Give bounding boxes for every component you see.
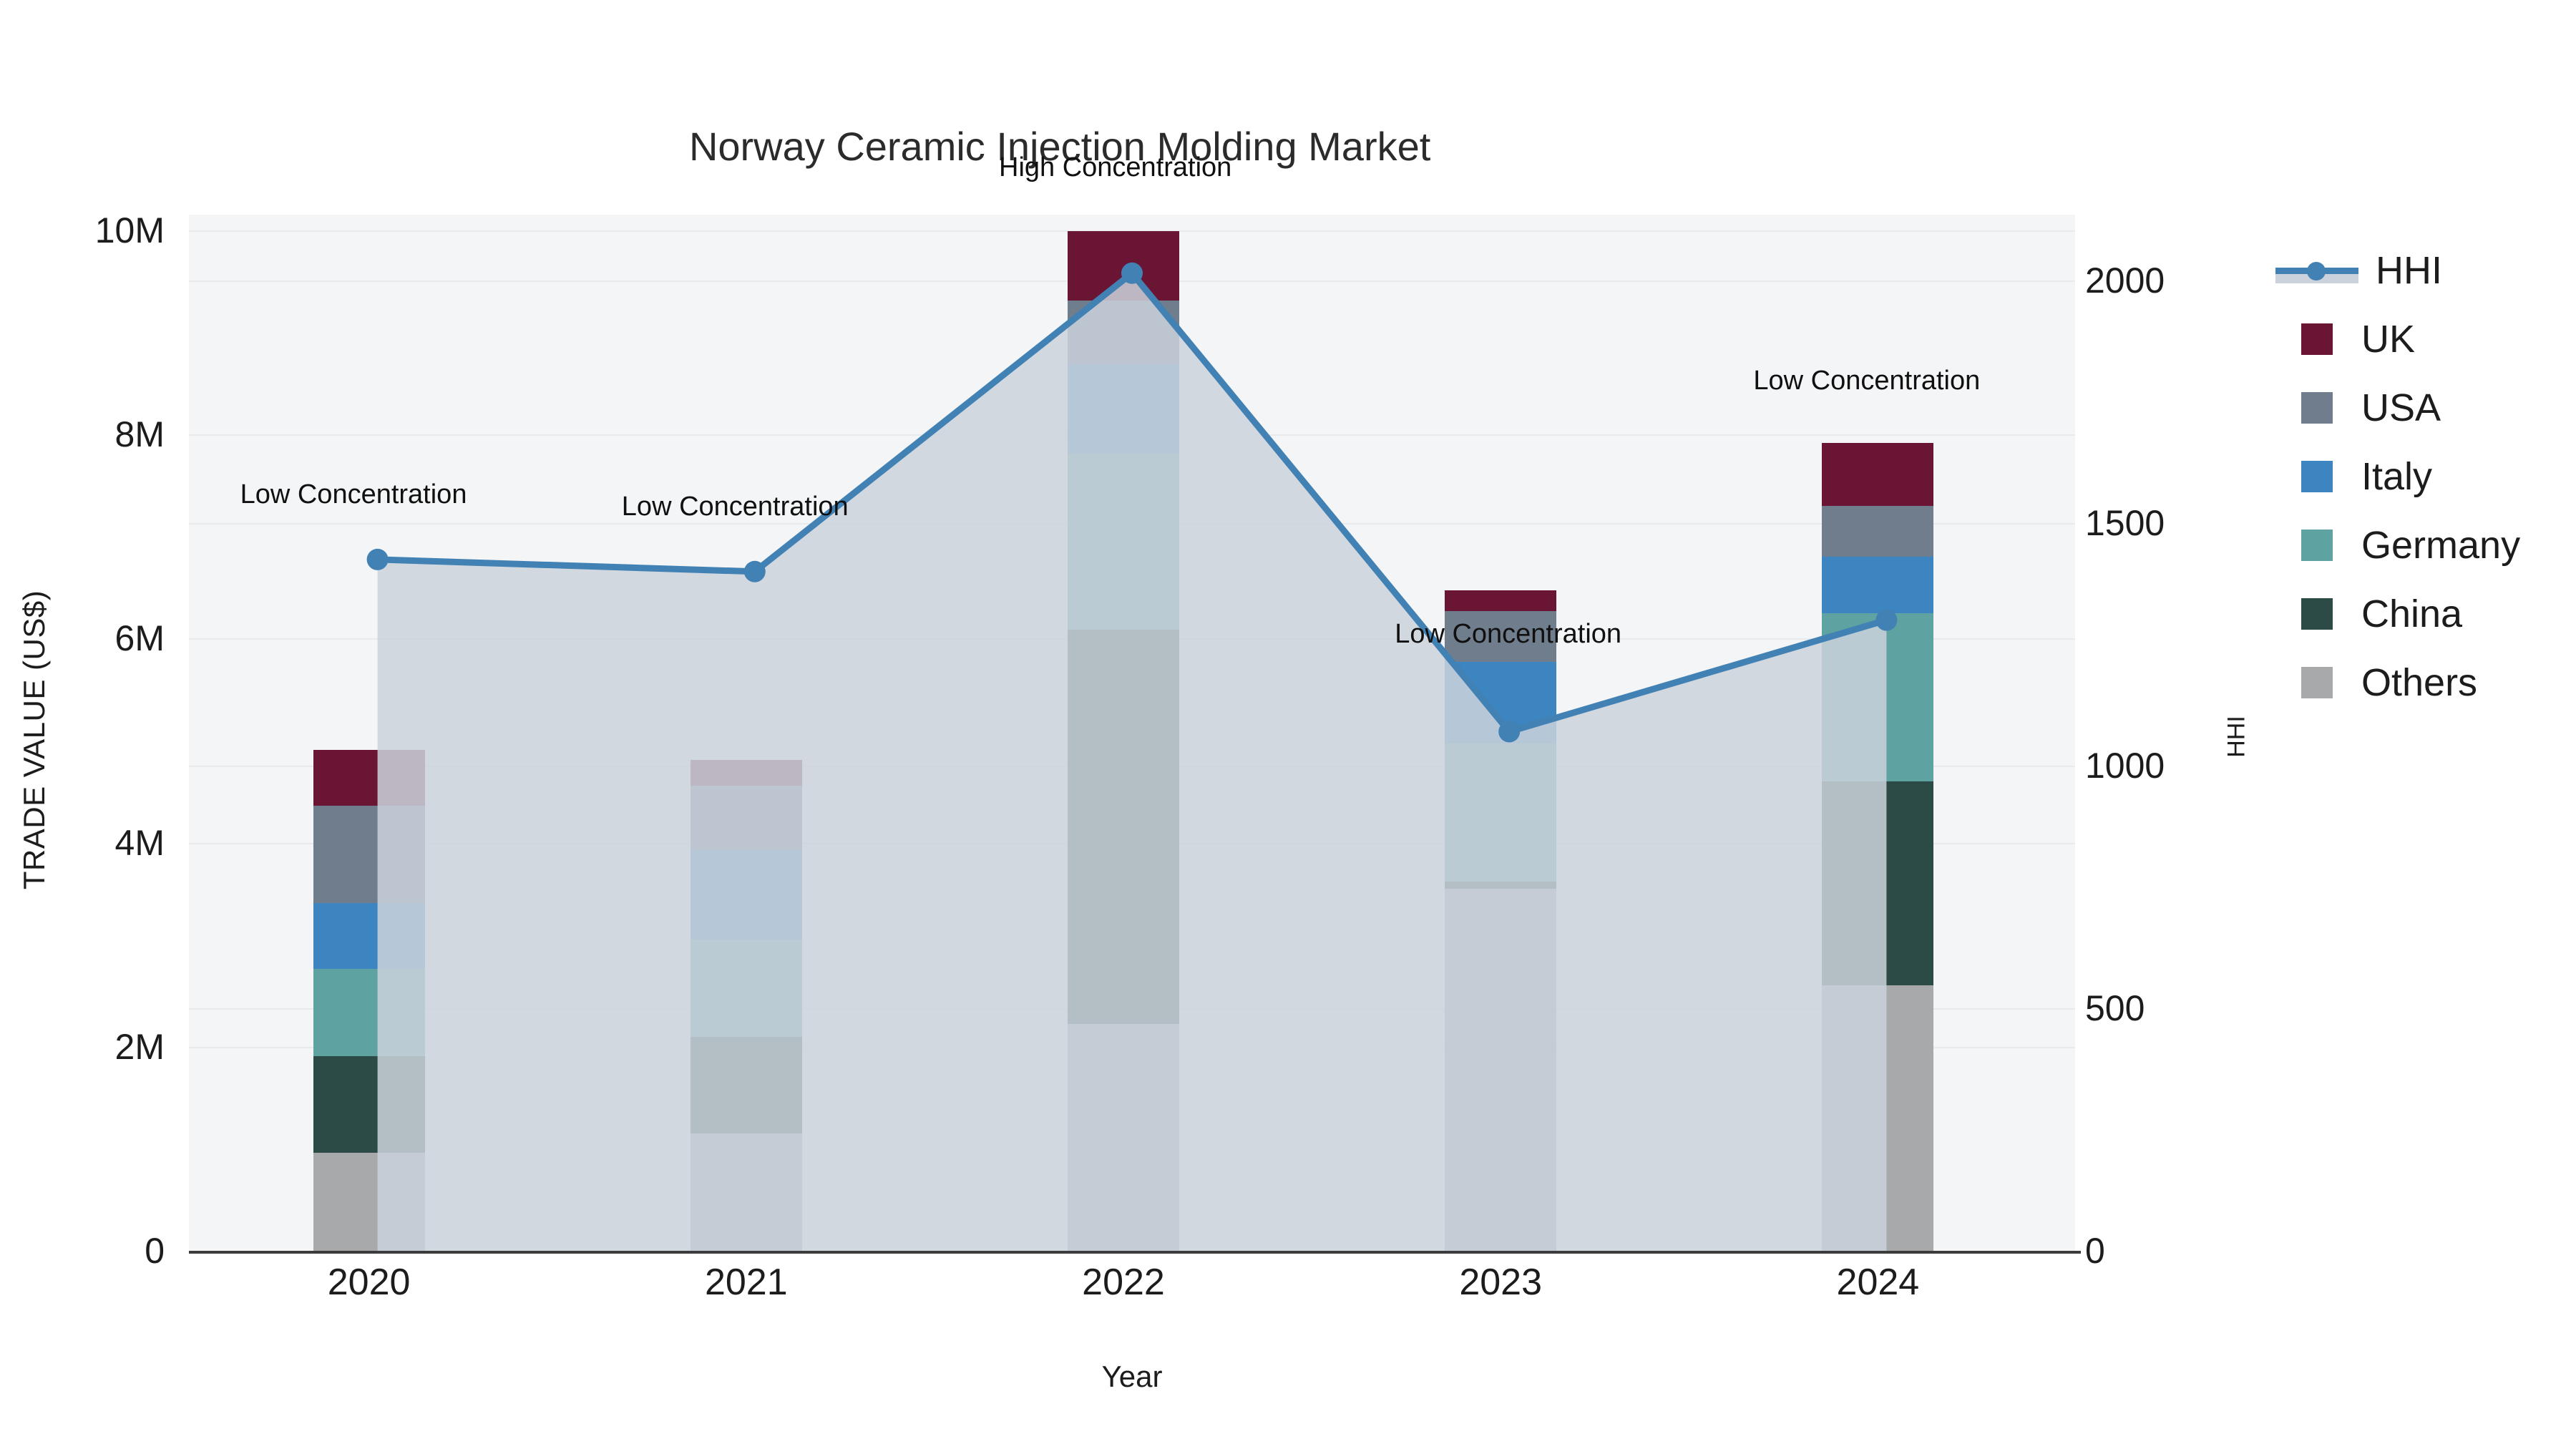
bar-segment-italy[interactable] bbox=[313, 903, 425, 970]
legend-item-label: UK bbox=[2361, 317, 2415, 361]
bar-segment-italy[interactable] bbox=[691, 850, 802, 940]
legend-item-label: USA bbox=[2361, 386, 2441, 430]
bar-segment-others[interactable] bbox=[1445, 889, 1556, 1251]
bar-segment-germany[interactable] bbox=[1068, 454, 1179, 629]
x-axis-tick-label-2023: 2023 bbox=[1386, 1264, 1615, 1301]
bar-segment-uk[interactable] bbox=[1445, 590, 1556, 611]
y-axis-right-tick-label: 0 bbox=[2085, 1233, 2271, 1269]
bar-segment-italy[interactable] bbox=[1822, 557, 1933, 613]
bar-segment-others[interactable] bbox=[1068, 1024, 1179, 1251]
bar-segment-uk[interactable] bbox=[1068, 231, 1179, 301]
bar-segment-germany[interactable] bbox=[313, 969, 425, 1055]
legend-item-label: Italy bbox=[2361, 454, 2432, 499]
bar-segment-germany[interactable] bbox=[691, 940, 802, 1036]
annotation-2021: Low Concentration bbox=[622, 493, 849, 520]
y-axis-left-tick-label: 0 bbox=[21, 1233, 165, 1269]
chart-legend: HHIUKUSAItalyGermanyChinaOthers bbox=[2275, 236, 2576, 717]
legend-swatch-icon bbox=[2301, 461, 2333, 492]
bar-segment-italy[interactable] bbox=[1068, 364, 1179, 454]
y-axis-right-title: HHI bbox=[2223, 594, 2251, 880]
x-axis-tick-label-2021: 2021 bbox=[632, 1264, 861, 1301]
annotation-2020: Low Concentration bbox=[240, 481, 467, 508]
bar-segment-uk[interactable] bbox=[313, 750, 425, 806]
legend-item-uk[interactable]: UK bbox=[2275, 305, 2576, 374]
x-axis-baseline bbox=[189, 1251, 2081, 1254]
bar-segment-uk[interactable] bbox=[691, 760, 802, 786]
legend-item-china[interactable]: China bbox=[2275, 580, 2576, 648]
chart-canvas: Norway Ceramic Injection Molding Market … bbox=[0, 0, 2576, 1449]
legend-line-marker-icon bbox=[2275, 255, 2358, 286]
legend-swatch-icon bbox=[2301, 530, 2333, 561]
bar-segment-others[interactable] bbox=[691, 1133, 802, 1251]
annotation-2024: Low Concentration bbox=[1753, 367, 1980, 394]
annotation-2023: Low Concentration bbox=[1395, 620, 1621, 648]
bar-segment-china[interactable] bbox=[691, 1037, 802, 1133]
y-axis-left-title: TRADE VALUE (US$) bbox=[17, 540, 52, 940]
bar-segment-germany[interactable] bbox=[1445, 743, 1556, 882]
x-axis-tick-label-2022: 2022 bbox=[1009, 1264, 1238, 1301]
legend-item-hhi[interactable]: HHI bbox=[2275, 236, 2576, 305]
y-axis-right-tick-label: 1500 bbox=[2085, 505, 2271, 541]
legend-item-usa[interactable]: USA bbox=[2275, 374, 2576, 442]
legend-item-others[interactable]: Others bbox=[2275, 648, 2576, 717]
legend-swatch-icon bbox=[2301, 667, 2333, 698]
bar-segment-uk[interactable] bbox=[1822, 443, 1933, 506]
bar-segment-germany[interactable] bbox=[1822, 613, 1933, 781]
legend-swatch-icon bbox=[2301, 323, 2333, 355]
bar-segment-china[interactable] bbox=[1068, 630, 1179, 1025]
bar-segment-italy[interactable] bbox=[1445, 662, 1556, 743]
x-axis-tick-label-2020: 2020 bbox=[255, 1264, 484, 1301]
legend-item-label: China bbox=[2361, 592, 2462, 636]
legend-swatch-icon bbox=[2301, 598, 2333, 630]
x-axis-tick-label-2024: 2024 bbox=[1763, 1264, 1992, 1301]
annotation-2022: High Concentration bbox=[999, 154, 1231, 181]
y-axis-left-tick-label: 10M bbox=[21, 213, 165, 248]
bar-segment-china[interactable] bbox=[1445, 882, 1556, 889]
bar-segment-china[interactable] bbox=[1822, 781, 1933, 985]
bar-segment-china[interactable] bbox=[313, 1056, 425, 1153]
y-axis-right-tick-label: 500 bbox=[2085, 990, 2271, 1026]
y-axis-left-tick-label: 2M bbox=[21, 1029, 165, 1065]
bar-segment-usa[interactable] bbox=[1068, 301, 1179, 364]
bar-segment-others[interactable] bbox=[313, 1153, 425, 1251]
bar-segment-usa[interactable] bbox=[691, 786, 802, 850]
y-axis-left-tick-label: 8M bbox=[21, 416, 165, 452]
bar-segment-usa[interactable] bbox=[313, 806, 425, 902]
legend-swatch-icon bbox=[2301, 392, 2333, 424]
y-axis-right-tick-label: 2000 bbox=[2085, 263, 2271, 298]
x-axis-title: Year bbox=[189, 1360, 2075, 1394]
bar-segment-others[interactable] bbox=[1822, 985, 1933, 1251]
bar-segment-usa[interactable] bbox=[1822, 506, 1933, 557]
legend-item-italy[interactable]: Italy bbox=[2275, 442, 2576, 511]
legend-item-label: Others bbox=[2361, 660, 2477, 705]
legend-item-label: HHI bbox=[2376, 248, 2442, 293]
legend-item-germany[interactable]: Germany bbox=[2275, 511, 2576, 580]
legend-item-label: Germany bbox=[2361, 523, 2520, 567]
